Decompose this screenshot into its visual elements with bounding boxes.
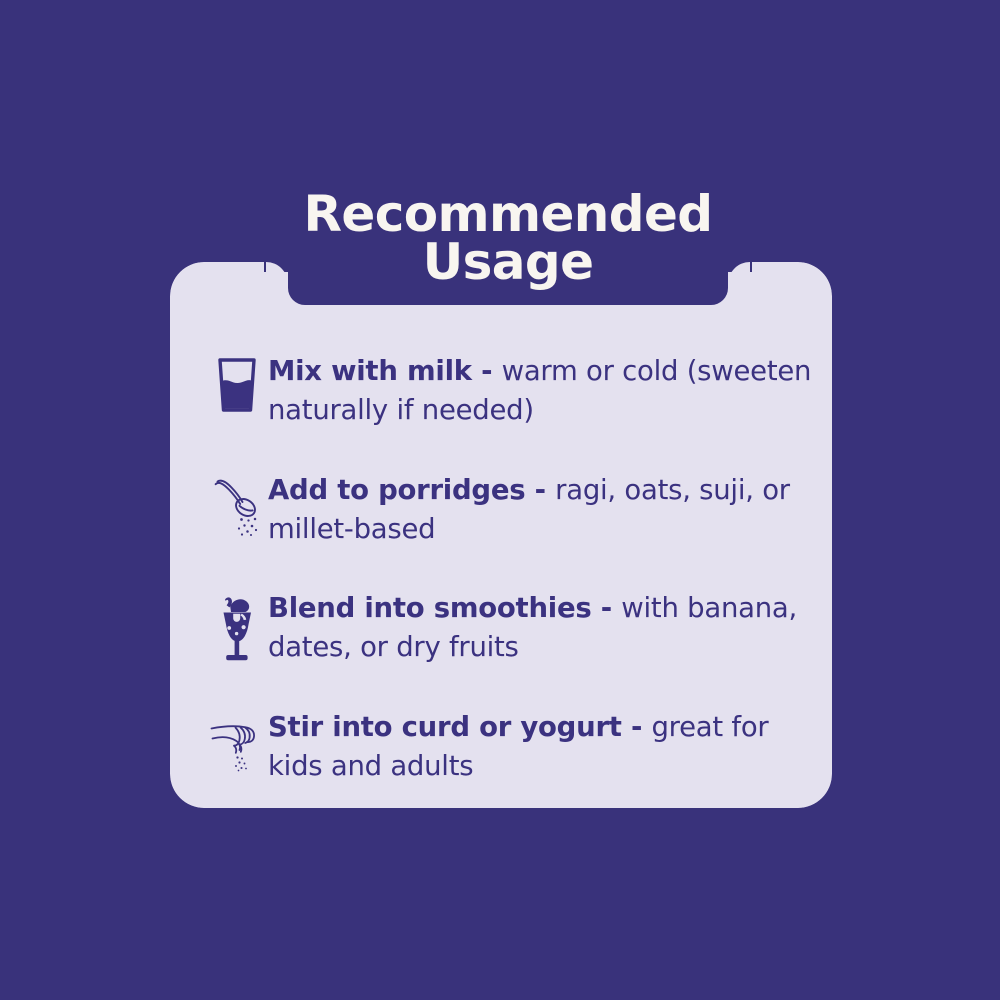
poster-canvas: Recommended Usage Mix with milk - warm o… xyxy=(0,0,1000,1000)
list-item-lead: Add to porridges xyxy=(268,474,525,506)
smoothie-glass-icon xyxy=(206,589,268,661)
list-item: Mix with milk - warm or cold (sweeten na… xyxy=(170,352,832,430)
hand-sprinkle-icon xyxy=(206,708,268,780)
usage-list: Mix with milk - warm or cold (sweeten na… xyxy=(170,262,832,808)
list-item-dash: - xyxy=(472,355,502,387)
list-item: Blend into smoothies - with banana, date… xyxy=(170,589,832,667)
list-item-text: Add to porridges - ragi, oats, suji, or … xyxy=(268,471,832,549)
list-item: Add to porridges - ragi, oats, suji, or … xyxy=(170,471,832,549)
list-item-dash: - xyxy=(525,474,555,506)
list-item-text: Mix with milk - warm or cold (sweeten na… xyxy=(268,352,832,430)
list-item: Stir into curd or yogurt - great for kid… xyxy=(170,708,832,786)
list-item-lead: Stir into curd or yogurt xyxy=(268,711,622,743)
list-item-text: Stir into curd or yogurt - great for kid… xyxy=(268,708,832,786)
list-item-lead: Blend into smoothies xyxy=(268,592,591,624)
list-item-dash: - xyxy=(622,711,652,743)
milk-glass-icon xyxy=(206,352,268,424)
list-item-text: Blend into smoothies - with banana, date… xyxy=(268,589,832,667)
spoon-powder-icon xyxy=(206,471,268,543)
list-item-dash: - xyxy=(591,592,621,624)
list-item-lead: Mix with milk xyxy=(268,355,472,387)
header-banner: Recommended Usage xyxy=(288,0,728,305)
